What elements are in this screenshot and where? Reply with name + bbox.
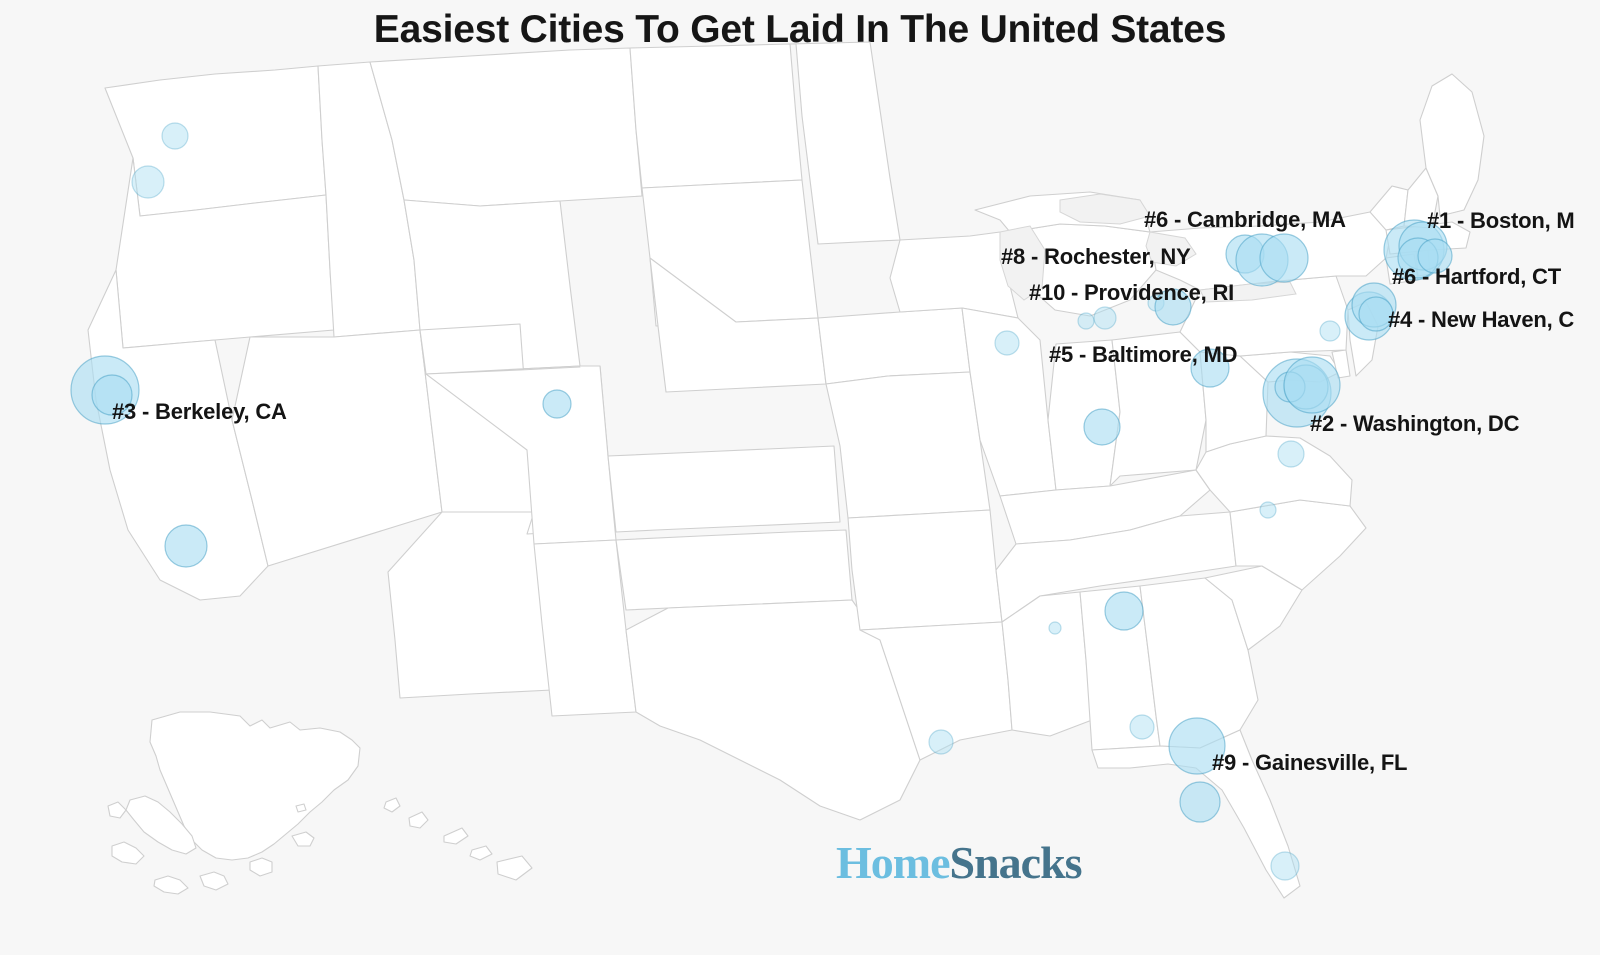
city-bubble	[1260, 234, 1308, 282]
city-bubble	[1105, 592, 1143, 630]
city-bubble	[162, 123, 188, 149]
city-bubble	[1271, 852, 1299, 880]
city-bubble	[132, 166, 164, 198]
city-bubble	[1094, 307, 1116, 329]
brand-snacks-text: Snacks	[950, 837, 1082, 888]
city-bubble	[929, 730, 953, 754]
city-bubble	[543, 390, 571, 418]
city-label-rank-9: #9 - Gainesville, FL	[1212, 750, 1407, 776]
city-bubble	[1278, 441, 1304, 467]
city-bubble	[1084, 409, 1120, 445]
city-bubble	[1260, 502, 1276, 518]
city-label-rank-2: #2 - Washington, DC	[1310, 411, 1519, 437]
city-bubble	[1130, 715, 1154, 739]
city-label-rank-1: #1 - Boston, M	[1427, 208, 1575, 234]
city-bubble	[1078, 313, 1094, 329]
city-bubble	[995, 331, 1019, 355]
city-label-rank-5: #5 - Baltimore, MD	[1049, 342, 1237, 368]
city-bubble	[1284, 357, 1340, 413]
city-label-rank-4: #4 - New Haven, C	[1388, 307, 1574, 333]
city-bubble	[1180, 782, 1220, 822]
city-label-rank-10: #10 - Providence, RI	[1029, 280, 1234, 306]
map-screenshot: Easiest Cities To Get Laid In The United…	[0, 0, 1600, 955]
city-bubble	[1320, 321, 1340, 341]
city-label-rank-3: #3 - Berkeley, CA	[112, 399, 287, 425]
city-bubble	[1049, 622, 1061, 634]
us-map	[0, 0, 1600, 955]
city-label-rank-8: #8 - Rochester, NY	[1001, 244, 1191, 270]
brand-home-text: Home	[836, 837, 950, 888]
city-label-rank-6: #6 - Cambridge, MA	[1144, 207, 1346, 233]
city-label-rank-6: #6 - Hartford, CT	[1392, 264, 1561, 290]
homesnacks-logo: HomeSnacks	[836, 836, 1082, 889]
city-bubble	[165, 525, 207, 567]
